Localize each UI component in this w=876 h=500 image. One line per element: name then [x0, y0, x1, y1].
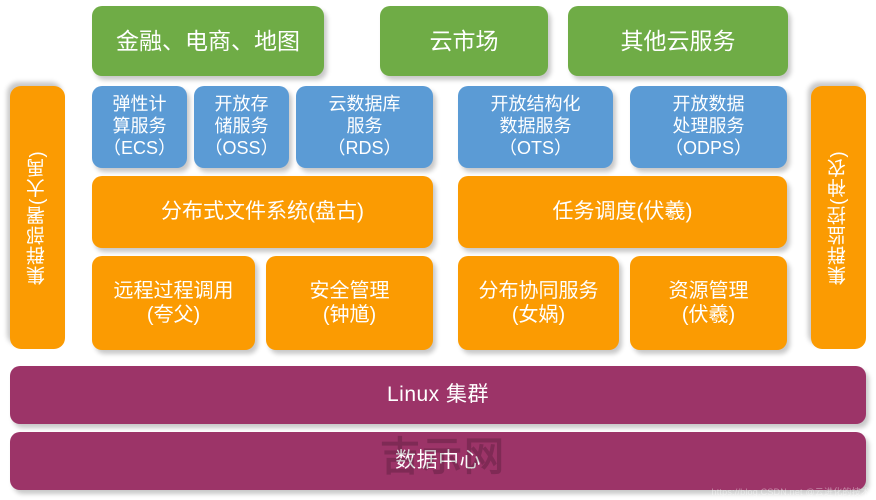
application-box-other-cloud-services[interactable]: 其他云服务 — [568, 6, 788, 76]
component-box-distributed-coordination[interactable]: 分布协同服务 (女娲) — [458, 256, 619, 350]
infrastructure-bar-linux-cluster[interactable]: Linux 集群 — [10, 366, 866, 424]
service-label-ots-line1: 开放结构化 — [462, 94, 609, 116]
service-label-oss-line3: （OSS） — [198, 138, 285, 160]
component-label-remote-procedure-call: 远程过程调用 (夸父) — [96, 279, 251, 328]
component-label-rpc-line2: (夸父) — [96, 303, 251, 327]
component-box-resource-management[interactable]: 资源管理 (伏羲) — [630, 256, 787, 350]
component-box-remote-procedure-call[interactable]: 远程过程调用 (夸父) — [92, 256, 255, 350]
component-label-resource-line1: 资源管理 — [634, 279, 783, 303]
service-label-rds-line3: （RDS） — [300, 138, 429, 160]
component-label-security-line1: 安全管理 — [270, 279, 429, 303]
service-label-odps-line3: （ODPS） — [634, 138, 783, 160]
service-label-odps: 开放数据 处理服务 （ODPS） — [634, 94, 783, 160]
component-label-rpc-line1: 远程过程调用 — [96, 279, 251, 303]
platform-box-task-scheduling[interactable]: 任务调度(伏羲) — [458, 176, 787, 248]
service-box-rds[interactable]: 云数据库 服务 （RDS） — [296, 86, 433, 168]
service-label-rds-line2: 服务 — [300, 116, 429, 138]
sidebar-label-cluster-monitoring: 集群监控(神农) — [827, 150, 850, 285]
application-box-finance[interactable]: 金融、电商、地图 — [92, 6, 324, 76]
platform-label-distributed-file-system: 分布式文件系统(盘古) — [161, 199, 364, 225]
platform-label-task-scheduling: 任务调度(伏羲) — [553, 199, 693, 225]
service-label-ots-line3: （OTS） — [462, 138, 609, 160]
component-label-coord-line2: (女娲) — [462, 303, 615, 327]
infrastructure-bar-data-center[interactable]: 数据中心 — [10, 432, 866, 490]
component-box-security-management[interactable]: 安全管理 (钟馗) — [266, 256, 433, 350]
application-label-cloud-market: 云市场 — [430, 27, 499, 55]
service-label-rds-line1: 云数据库 — [300, 94, 429, 116]
infrastructure-label-linux-cluster-wrap: Linux 集群 — [14, 382, 862, 408]
infrastructure-label-linux-cluster: Linux 集群 — [14, 382, 862, 408]
service-box-ecs[interactable]: 弹性计 算服务 （ECS） — [92, 86, 187, 168]
service-label-oss-line1: 开放存 — [198, 94, 285, 116]
service-label-oss: 开放存 储服务 （OSS） — [198, 94, 285, 160]
service-label-oss-line2: 储服务 — [198, 116, 285, 138]
sidebar-cluster-deployment[interactable]: 集群部署(大禹) — [10, 86, 65, 349]
service-label-ots: 开放结构化 数据服务 （OTS） — [462, 94, 609, 160]
service-box-oss[interactable]: 开放存 储服务 （OSS） — [194, 86, 289, 168]
application-box-cloud-market[interactable]: 云市场 — [380, 6, 548, 76]
service-box-ots[interactable]: 开放结构化 数据服务 （OTS） — [458, 86, 613, 168]
application-label-other-cloud-services: 其他云服务 — [621, 27, 736, 55]
service-box-odps[interactable]: 开放数据 处理服务 （ODPS） — [630, 86, 787, 168]
service-label-ots-line2: 数据服务 — [462, 116, 609, 138]
service-label-ecs: 弹性计 算服务 （ECS） — [96, 94, 183, 160]
infrastructure-label-data-center-wrap: 数据中心 — [14, 448, 862, 474]
service-label-odps-line2: 处理服务 — [634, 116, 783, 138]
component-label-resource-line2: (伏羲) — [634, 303, 783, 327]
component-label-coord-line1: 分布协同服务 — [462, 279, 615, 303]
sidebar-cluster-monitoring[interactable]: 集群监控(神农) — [811, 86, 866, 349]
infrastructure-label-data-center: 数据中心 — [14, 448, 862, 474]
component-label-distributed-coordination: 分布协同服务 (女娲) — [462, 279, 615, 328]
application-label-finance: 金融、电商、地图 — [116, 27, 300, 55]
service-label-ecs-line1: 弹性计 — [96, 94, 183, 116]
service-label-ecs-line3: （ECS） — [96, 138, 183, 160]
component-label-security-line2: (钟馗) — [270, 303, 429, 327]
service-label-odps-line1: 开放数据 — [634, 94, 783, 116]
service-label-rds: 云数据库 服务 （RDS） — [300, 94, 429, 160]
component-label-resource-management: 资源管理 (伏羲) — [634, 279, 783, 328]
service-label-ecs-line2: 算服务 — [96, 116, 183, 138]
platform-box-distributed-file-system[interactable]: 分布式文件系统(盘古) — [92, 176, 433, 248]
sidebar-label-cluster-deployment: 集群部署(大禹) — [26, 150, 49, 285]
component-label-security-management: 安全管理 (钟馗) — [270, 279, 429, 328]
